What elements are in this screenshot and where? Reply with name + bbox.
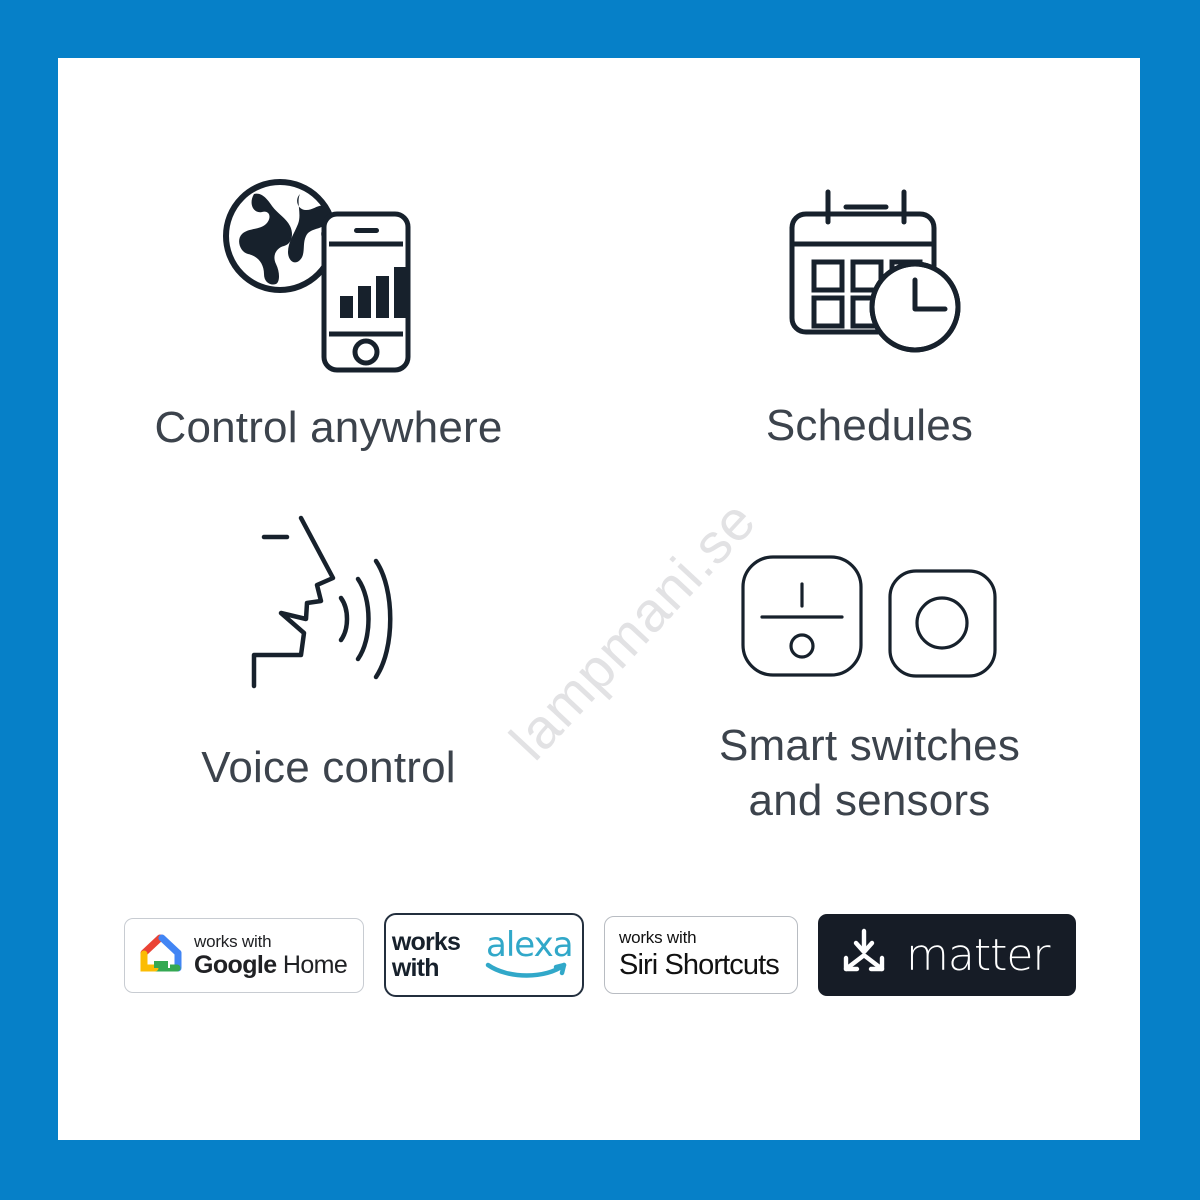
google-home-text: works with Google Home xyxy=(194,933,347,978)
feature-label: Schedules xyxy=(766,398,973,453)
feature-label: Voice control xyxy=(201,740,456,795)
works-line-1: works xyxy=(392,929,460,956)
feature-smart-switches-and-sensors: Smart switches and sensors xyxy=(599,498,1140,828)
matter-logo-icon xyxy=(836,925,892,986)
alexa-works-with-label: works with xyxy=(392,929,460,982)
siri-shortcuts-brand: Siri Shortcuts xyxy=(619,949,779,982)
calendar-clock-icon xyxy=(770,168,970,368)
feature-label-line1: Smart switches xyxy=(719,718,1020,773)
google-home-brand: Google Home xyxy=(194,953,347,978)
speaking-head-icon xyxy=(229,498,429,708)
google-word: Google xyxy=(194,951,277,979)
google-home-house-icon xyxy=(138,931,184,980)
switch-sensor-icon xyxy=(730,498,1010,686)
page-root: lampmani.se xyxy=(0,0,1200,1200)
badge-siri-shortcuts[interactable]: works with Siri Shortcuts xyxy=(604,916,798,994)
compatibility-badge-row: works with Google Home works with alexa xyxy=(124,913,1076,997)
alexa-wordmark-icon: alexa xyxy=(484,923,576,988)
badge-alexa[interactable]: works with alexa xyxy=(384,913,584,997)
feature-voice-control: Voice control xyxy=(58,498,599,828)
matter-wordmark: matter xyxy=(906,930,1050,981)
badge-matter[interactable]: matter xyxy=(818,914,1076,996)
works-with-label: works with xyxy=(619,928,696,948)
feature-label-line2: and sensors xyxy=(719,773,1020,828)
svg-text:alexa: alexa xyxy=(486,925,573,965)
badge-google-home[interactable]: works with Google Home xyxy=(124,918,364,993)
works-with-label: works with xyxy=(194,933,347,950)
content-panel: lampmani.se xyxy=(58,58,1140,1140)
works-line-2: with xyxy=(392,955,460,982)
feature-schedules: Schedules xyxy=(599,168,1140,498)
feature-label: Control anywhere xyxy=(154,400,502,455)
feature-control-anywhere: Control anywhere xyxy=(58,168,599,498)
globe-phone-icon xyxy=(214,168,444,378)
home-word: Home xyxy=(277,951,348,979)
feature-grid: Control anywhere xyxy=(58,168,1140,828)
feature-label: Smart switches and sensors xyxy=(719,718,1020,828)
